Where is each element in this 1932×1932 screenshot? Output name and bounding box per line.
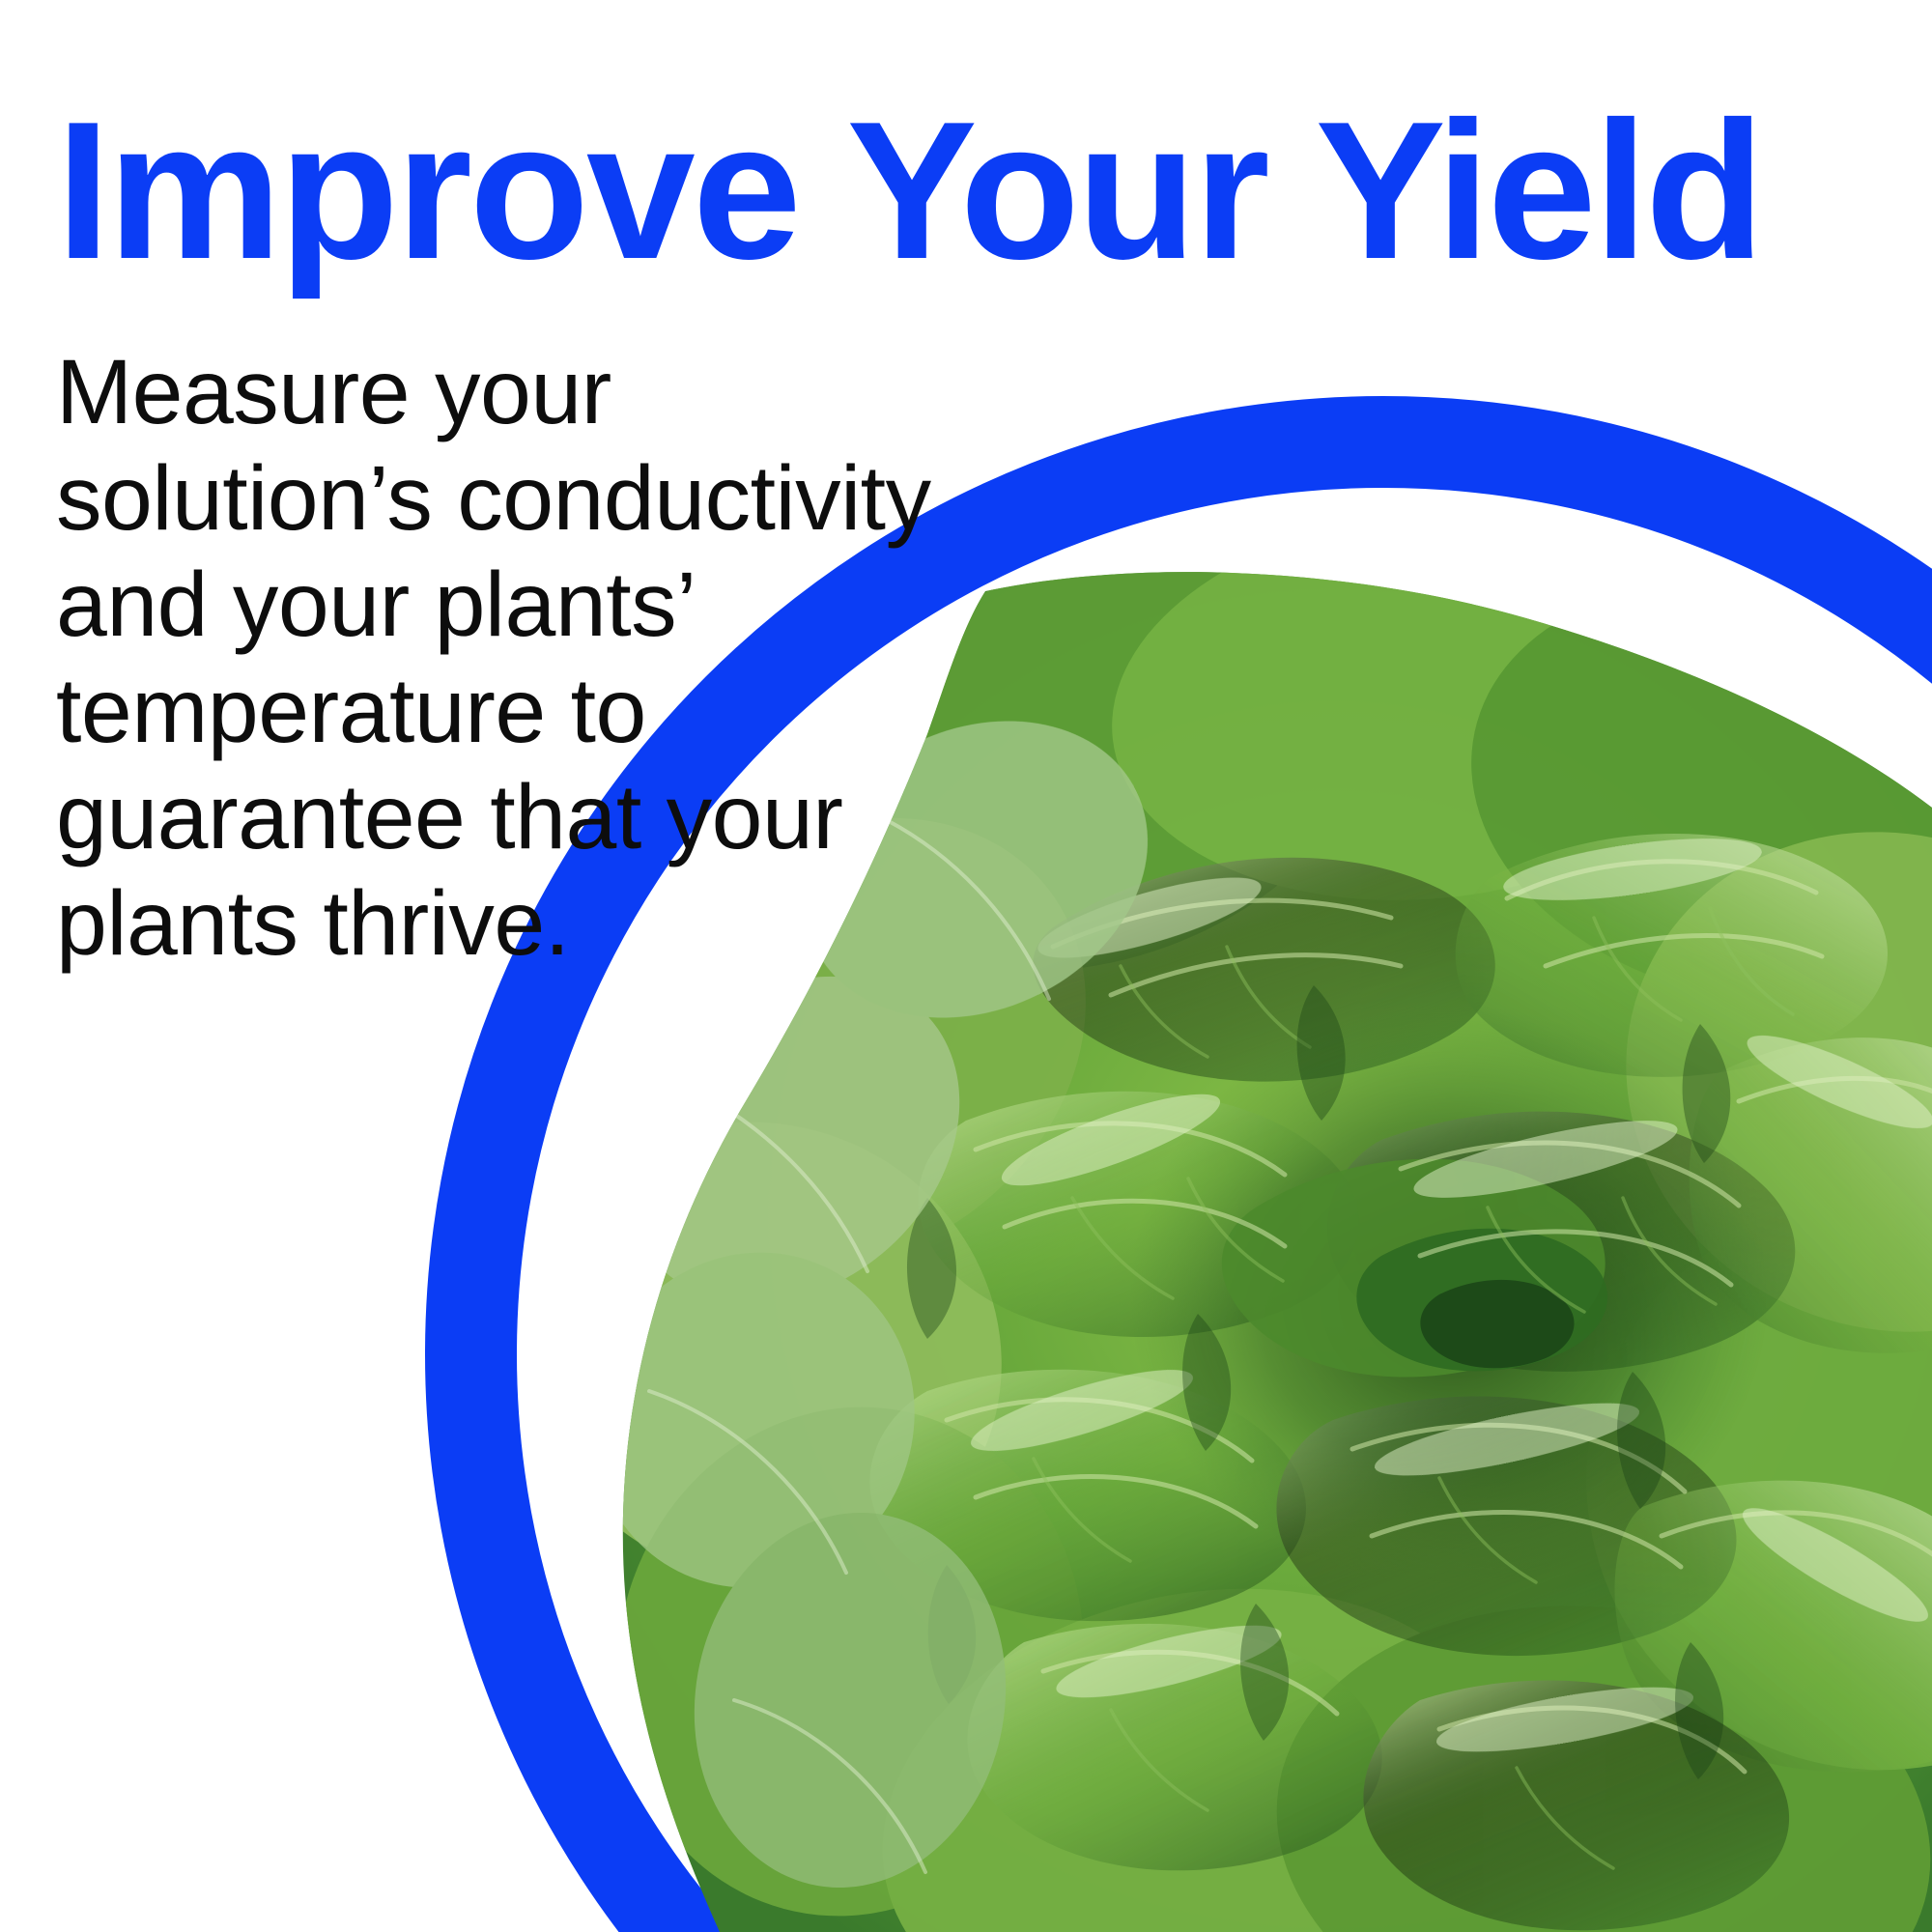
promo-card: Improve Your Yield Measure your solution…	[0, 0, 1932, 1932]
copy-block: Improve Your Yield Measure your solution…	[56, 93, 1882, 977]
body-paragraph: Measure your solution’s conductivity and…	[56, 289, 983, 977]
page-title: Improve Your Yield	[56, 93, 1882, 289]
